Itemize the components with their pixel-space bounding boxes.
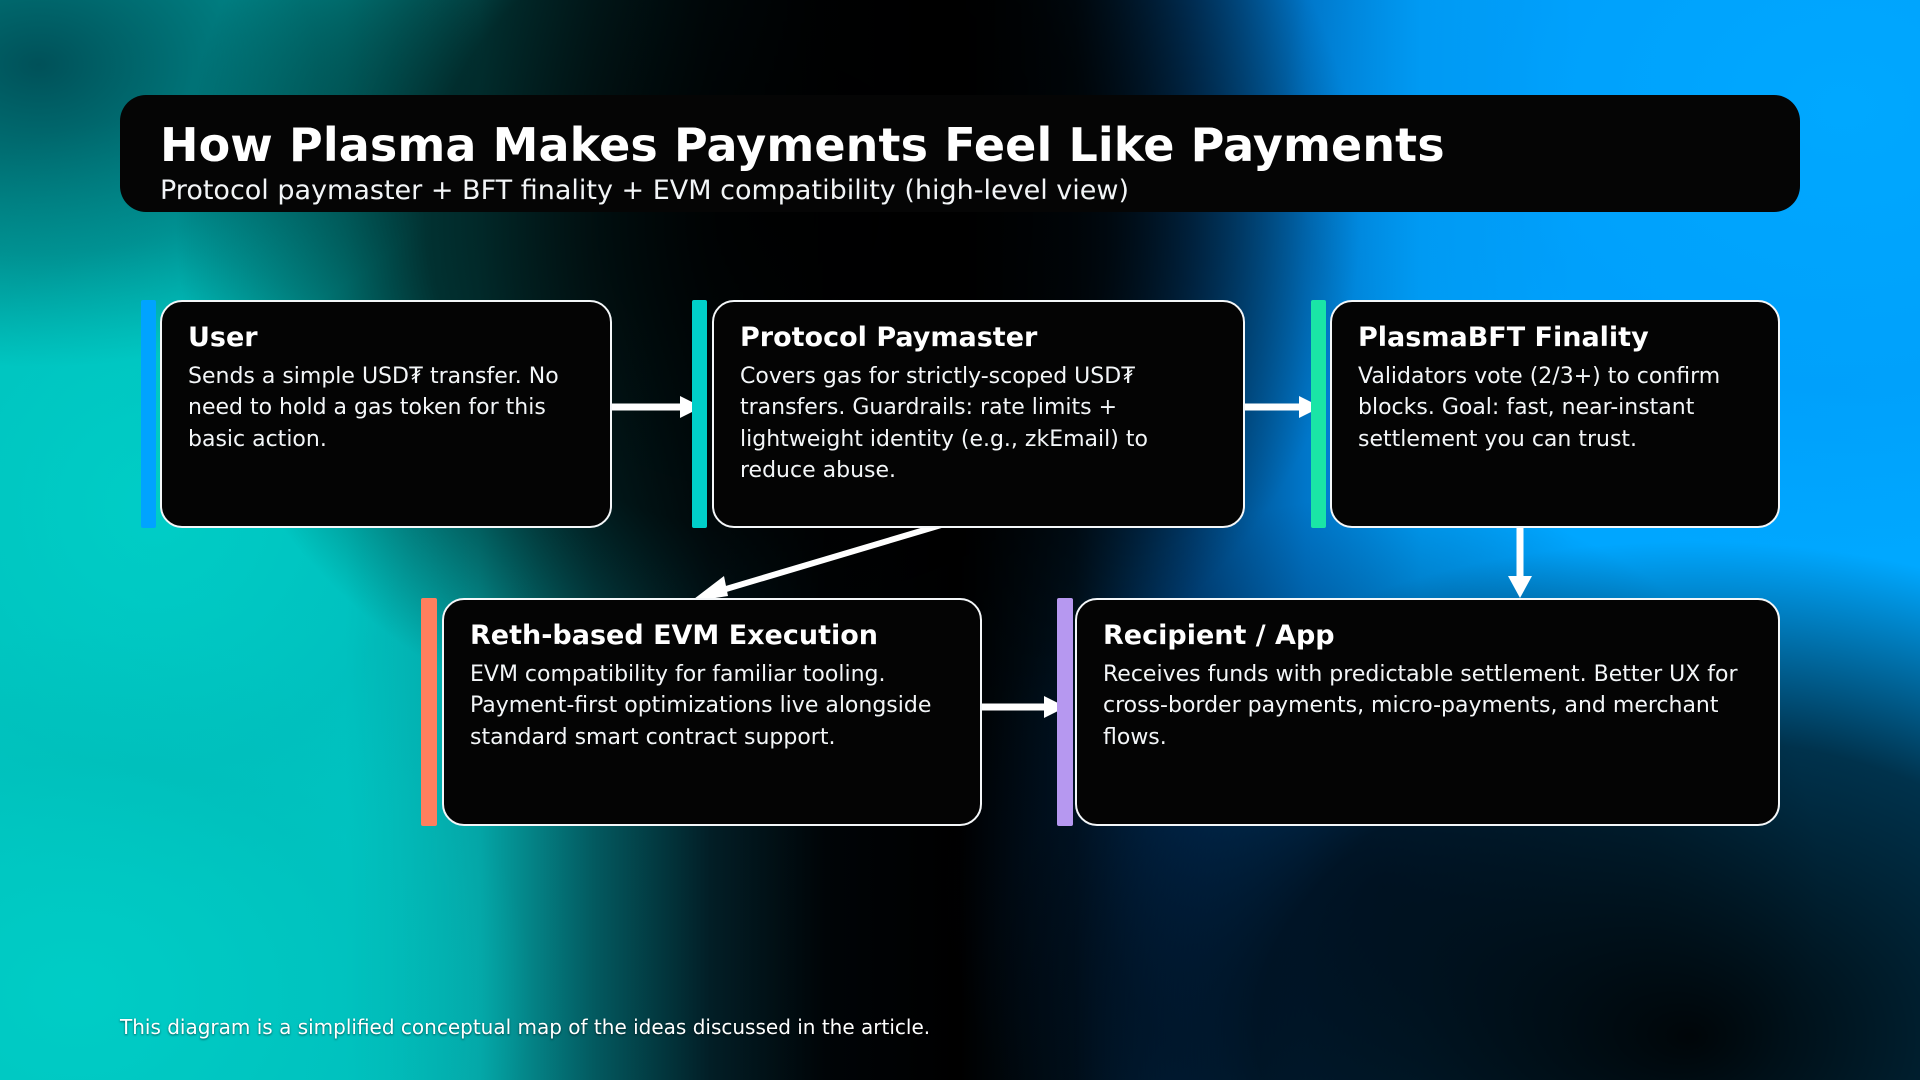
footer-note: This diagram is a simplified conceptual … [120, 1015, 930, 1039]
arrow-user-to-paymaster [612, 392, 702, 422]
card-title-protocol-paymaster: Protocol Paymaster [740, 322, 1217, 353]
card-title-user: User [188, 322, 584, 353]
card-body-plasmabft-finality: Validators vote (2/3+) to confirm blocks… [1358, 361, 1752, 455]
arrow-evm-to-recipient [982, 692, 1066, 722]
arrow-finality-to-recipient [1505, 528, 1535, 598]
card-title-plasmabft-finality: PlasmaBFT Finality [1358, 322, 1752, 353]
diagram-canvas: How Plasma Makes Payments Feel Like Paym… [0, 0, 1920, 1080]
node-card-user[interactable]: User Sends a simple USD₮ transfer. No ne… [160, 300, 612, 528]
card-accent-reth-evm-execution [421, 598, 437, 826]
node-card-reth-evm-execution[interactable]: Reth-based EVM Execution EVM compatibili… [442, 598, 982, 826]
page-subtitle: Protocol paymaster + BFT finality + EVM … [160, 175, 1129, 206]
card-title-recipient-app: Recipient / App [1103, 620, 1752, 651]
node-card-recipient-app[interactable]: Recipient / App Receives funds with pred… [1075, 598, 1780, 826]
card-body-reth-evm-execution: EVM compatibility for familiar tooling. … [470, 659, 954, 753]
node-card-protocol-paymaster[interactable]: Protocol Paymaster Covers gas for strict… [712, 300, 1245, 528]
page-title: How Plasma Makes Payments Feel Like Paym… [160, 118, 1445, 172]
card-title-reth-evm-execution: Reth-based EVM Execution [470, 620, 954, 651]
arrow-paymaster-to-finality [1245, 392, 1321, 422]
card-accent-plasmabft-finality [1311, 300, 1326, 528]
card-accent-recipient-app [1057, 598, 1073, 826]
node-card-plasmabft-finality[interactable]: PlasmaBFT Finality Validators vote (2/3+… [1330, 300, 1780, 528]
card-body-user: Sends a simple USD₮ transfer. No need to… [188, 361, 584, 455]
arrow-paymaster-to-evm [690, 518, 960, 602]
card-body-recipient-app: Receives funds with predictable settleme… [1103, 659, 1752, 753]
card-accent-paymaster [692, 300, 707, 528]
card-accent-user [141, 300, 156, 528]
card-body-protocol-paymaster: Covers gas for strictly-scoped USD₮ tran… [740, 361, 1217, 486]
